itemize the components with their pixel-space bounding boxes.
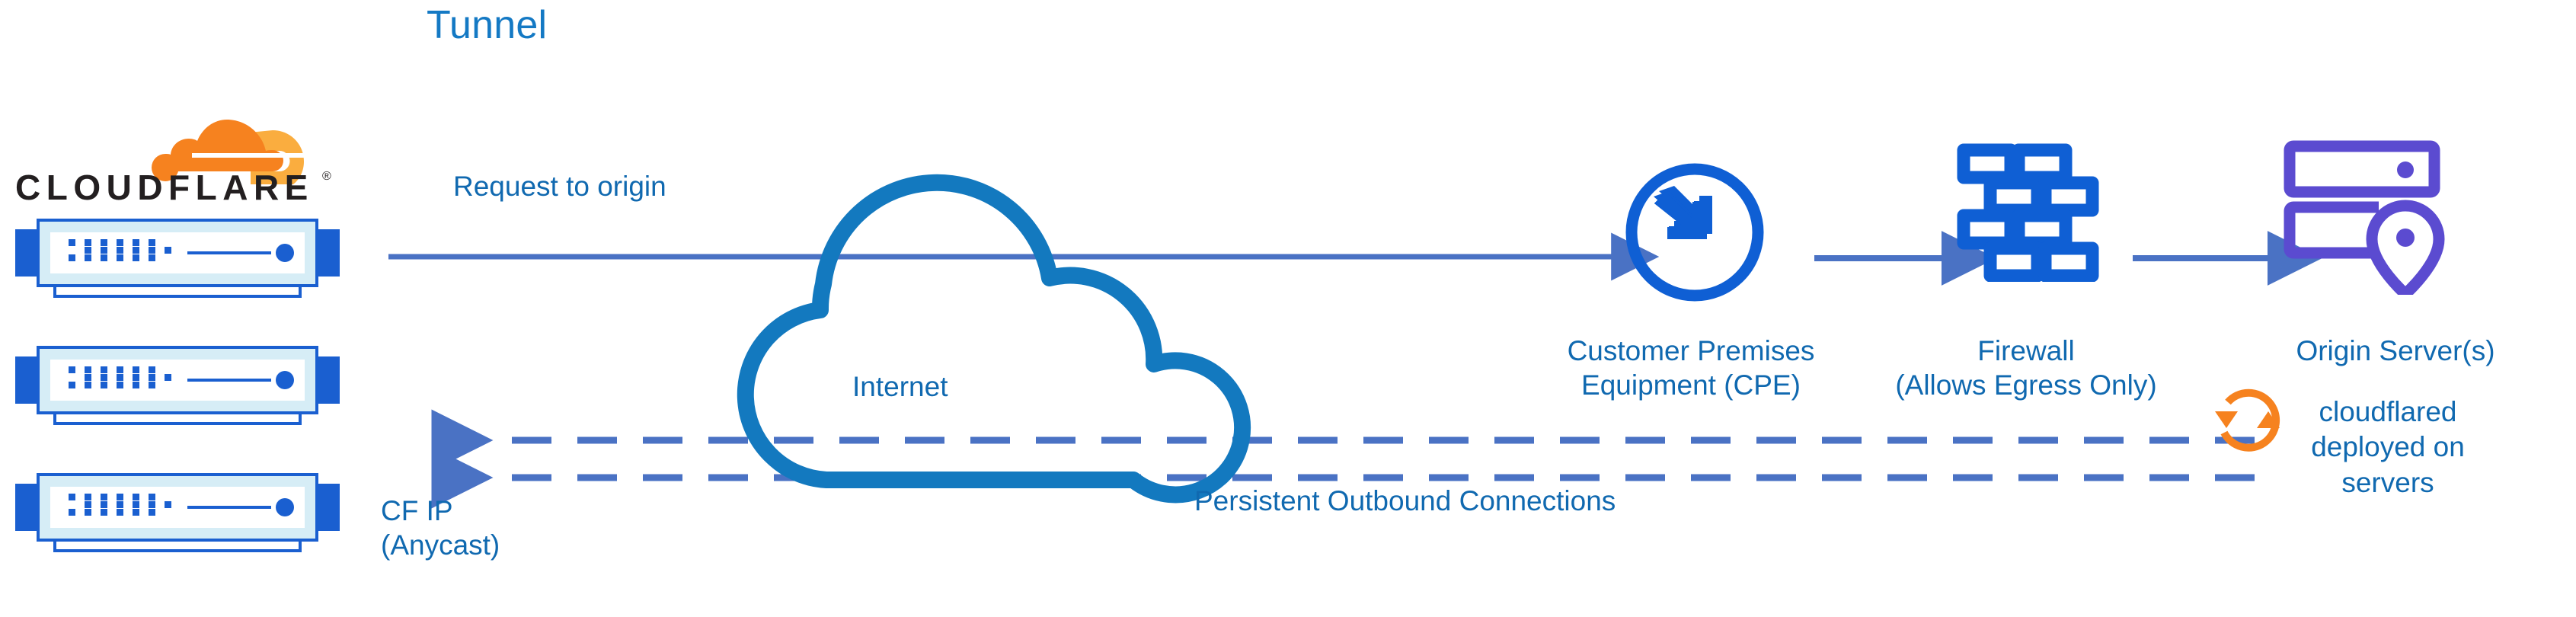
cpe-label-line2: Equipment (CPE) xyxy=(1523,368,1858,402)
cpe-label-line1: Customer Premises xyxy=(1523,334,1858,368)
brick-wall-icon xyxy=(1954,141,2106,282)
location-pin-dot xyxy=(2396,229,2415,247)
brick xyxy=(1964,216,2011,243)
four-arrows-circle-icon xyxy=(1622,160,1767,305)
firewall-label-line1: Firewall xyxy=(1858,334,2194,368)
origin-server-unit-bottom xyxy=(2290,207,2379,253)
cloudflared-line2: deployed on xyxy=(2293,430,2483,465)
brick xyxy=(1990,183,2037,210)
location-pin-icon xyxy=(2372,206,2439,294)
origin-server-label: Origin Server(s) xyxy=(2236,334,2555,368)
cpe-label: Customer Premises Equipment (CPE) xyxy=(1523,334,1858,402)
cf-ip-line1: CF IP xyxy=(381,494,625,528)
brick xyxy=(2045,248,2092,276)
brick xyxy=(1990,248,2037,276)
origin-server-led-top xyxy=(2397,161,2414,178)
cloud-outline-icon xyxy=(746,183,1242,495)
firewall-label-line2: (Allows Egress Only) xyxy=(1858,368,2194,402)
persistent-outbound-connections-label: Persistent Outbound Connections xyxy=(1194,484,1616,518)
sync-circular-arrows-icon xyxy=(2207,381,2287,461)
cf-ip-line2: (Anycast) xyxy=(381,528,625,562)
sync-arrowhead-upper-left xyxy=(2215,411,2238,428)
cloudflared-line1: cloudflared xyxy=(2293,395,2483,430)
internet-label: Internet xyxy=(852,369,948,404)
cloudflared-annotation: cloudflared deployed on servers xyxy=(2293,395,2483,500)
cf-ip-anycast-label: CF IP (Anycast) xyxy=(381,494,625,562)
cloudflared-line3: servers xyxy=(2293,465,2483,500)
request-to-origin-label: Request to origin xyxy=(453,169,666,203)
server-stack-location-pin-icon xyxy=(2281,139,2449,295)
diagram-canvas: Tunnel CLOUDFLARE ® xyxy=(0,0,2576,617)
brick xyxy=(2045,183,2092,210)
firewall-label: Firewall (Allows Egress Only) xyxy=(1858,334,2194,402)
brick xyxy=(2018,150,2066,177)
brick xyxy=(1964,150,2011,177)
brick xyxy=(2018,216,2066,243)
